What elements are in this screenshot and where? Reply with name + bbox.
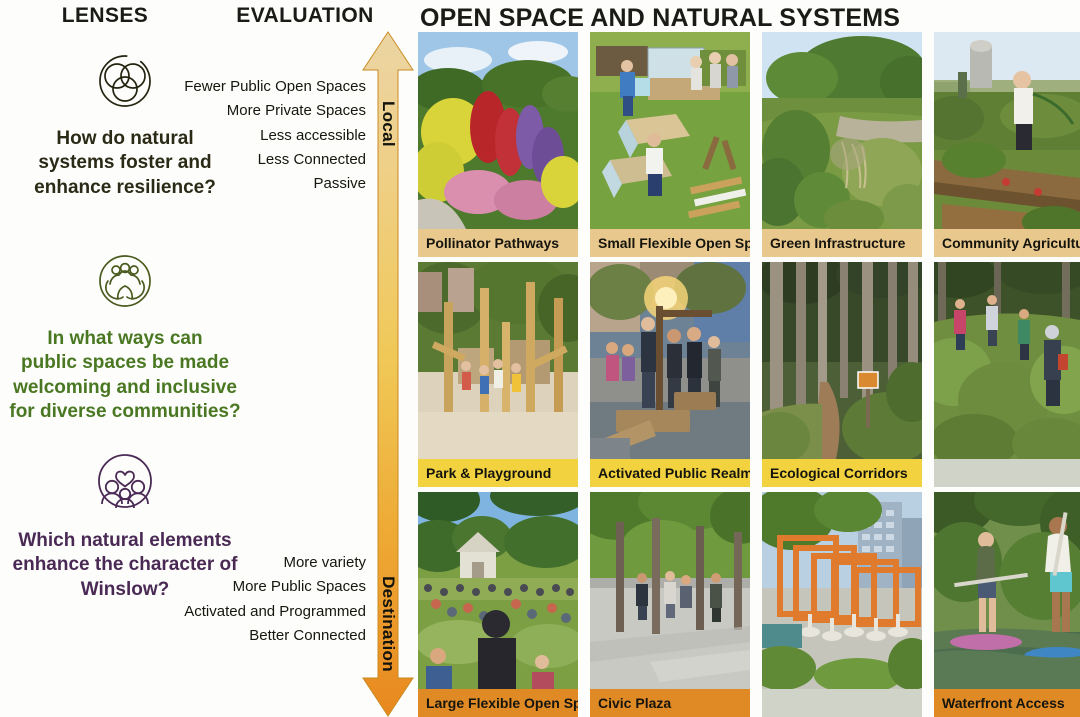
photo-bioswale-planting: [762, 32, 922, 229]
photo-caption: Civic Plaza: [590, 689, 750, 717]
axis-label-destination: Destination: [378, 576, 398, 672]
photo-caption: Activated Public Realm: [590, 459, 750, 487]
photo-rooftop-farm: [934, 32, 1080, 229]
photo-card-community-agriculture[interactable]: Community Agriculture: [934, 32, 1080, 257]
photo-wildflower-garden: [418, 32, 578, 229]
evaluation-item: Better Connected: [131, 624, 366, 648]
photo-fern-hillside-walkers: [934, 262, 1080, 459]
photo-row-destination: Large Flexible Open Space: [418, 492, 1080, 717]
photo-card-park-playground[interactable]: Park & Playground: [418, 262, 578, 487]
evaluation-item: More Public Spaces: [131, 575, 366, 599]
evaluation-list-local: Fewer Public Open Spaces More Private Sp…: [131, 75, 366, 196]
photo-caption: Ecological Corridors: [762, 459, 922, 487]
photo-caption: Green Infrastructure: [762, 229, 922, 257]
photo-caption: Small Flexible Open Space: [590, 229, 750, 257]
photo-row-local: Pollinator Pathways: [418, 32, 1080, 257]
lens-question: In what ways can public spaces be made w…: [0, 327, 250, 424]
evaluation-item: Activated and Programmed: [131, 600, 366, 624]
photo-caption: Waterfront Access: [934, 689, 1080, 717]
evaluation-item: More Private Spaces: [131, 99, 366, 123]
community-hands-icon: [0, 250, 250, 317]
evaluation-item: Fewer Public Open Spaces: [131, 75, 366, 99]
column-header-lenses: LENSES: [30, 4, 180, 28]
photo-card-waterfront-access[interactable]: Waterfront Access: [934, 492, 1080, 717]
page-title: OPEN SPACE AND NATURAL SYSTEMS: [420, 4, 900, 33]
photo-tree-lined-plaza: [590, 492, 750, 689]
photo-card-small-flexible-open-space[interactable]: Small Flexible Open Space: [590, 32, 750, 257]
photo-card-ecological-corridors[interactable]: Ecological Corridors: [762, 262, 922, 487]
photo-card-pollinator-pathways[interactable]: Pollinator Pathways: [418, 32, 578, 257]
photo-grid: Pollinator Pathways: [418, 32, 1080, 717]
photo-card-activated-public-realm[interactable]: Activated Public Realm: [590, 262, 750, 487]
photo-forest-trail: [762, 262, 922, 459]
family-heart-icon: [0, 448, 250, 519]
photo-street-performance: [590, 262, 750, 459]
photo-row-middle: Park & Playground: [418, 262, 1080, 487]
photo-caption: Pollinator Pathways: [418, 229, 578, 257]
photo-card-civic-plaza[interactable]: Civic Plaza: [590, 492, 750, 717]
photo-card-large-flexible-open-space[interactable]: Large Flexible Open Space: [418, 492, 578, 717]
lens-block-inclusive: In what ways can public spaces be made w…: [0, 250, 250, 424]
photo-card-civic-plaza-secondary[interactable]: [762, 492, 922, 717]
photo-caption: Community Agriculture: [934, 229, 1080, 257]
evaluation-item: More variety: [131, 551, 366, 575]
photo-modular-lawn-furniture: [590, 32, 750, 229]
photo-orange-pergola-yoga: [762, 492, 922, 689]
evaluation-item: Less accessible: [131, 124, 366, 148]
local-destination-axis-arrow: Local Destination: [360, 30, 416, 717]
photo-caption: Large Flexible Open Space: [418, 689, 578, 717]
evaluation-item: Passive: [131, 172, 366, 196]
evaluation-list-destination: More variety More Public Spaces Activate…: [131, 551, 366, 648]
photo-card-ecological-corridors-secondary[interactable]: [934, 262, 1080, 487]
axis-label-local: Local: [378, 101, 398, 147]
infographic-page: LENSES EVALUATION OPEN SPACE AND NATURAL…: [0, 0, 1080, 717]
photo-caption: Park & Playground: [418, 459, 578, 487]
photo-card-green-infrastructure[interactable]: Green Infrastructure: [762, 32, 922, 257]
evaluation-item: Less Connected: [131, 148, 366, 172]
photo-paddleboarders: [934, 492, 1080, 689]
photo-park-concert-crowd: [418, 492, 578, 689]
photo-timber-playground: [418, 262, 578, 459]
column-header-evaluation: EVALUATION: [230, 4, 380, 28]
